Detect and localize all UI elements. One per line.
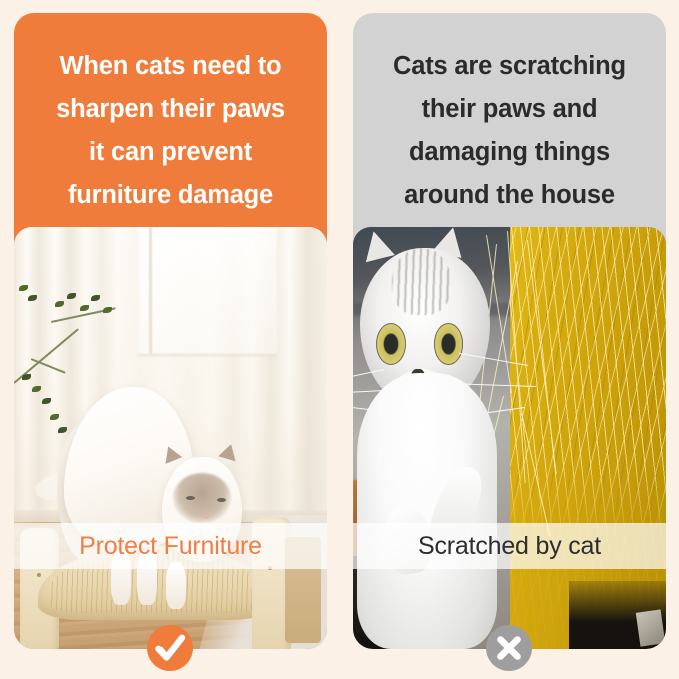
comparison-card-positive: When cats need to sharpen their paws it … xyxy=(14,13,327,649)
cat-eye xyxy=(186,496,195,500)
headline-positive-line-4: furniture damage xyxy=(28,174,313,217)
headline-negative-line-2: their paws and xyxy=(367,88,652,131)
headline-positive-line-3: it can prevent xyxy=(28,131,313,174)
grey-cat xyxy=(353,231,528,649)
cat-eye xyxy=(434,323,464,365)
cat-leg xyxy=(166,562,186,609)
caption-protect-furniture: Protect Furniture xyxy=(79,532,262,561)
headline-positive-line-1: When cats need to xyxy=(28,45,313,88)
cross-icon xyxy=(486,625,532,671)
headline-negative-line-1: Cats are scratching xyxy=(367,45,652,88)
comparison-card-negative: Cats are scratching their paws and damag… xyxy=(353,13,666,649)
cat-ear xyxy=(359,228,395,262)
headline-positive: When cats need to sharpen their paws it … xyxy=(14,45,327,217)
cat-forehead-stripes xyxy=(392,248,452,315)
headline-negative-line-3: damaging things xyxy=(367,131,652,174)
comparison-infographic: When cats need to sharpen their paws it … xyxy=(0,0,679,679)
headline-positive-line-2: sharpen their paws xyxy=(28,88,313,131)
window-pane xyxy=(139,227,277,356)
headline-negative-line-4: around the house xyxy=(367,174,652,217)
photo-scratched-by-cat: Scratched by cat xyxy=(353,227,666,649)
headline-negative: Cats are scratching their paws and damag… xyxy=(353,45,666,217)
cat-ear xyxy=(219,441,240,460)
caption-band-negative: Scratched by cat xyxy=(353,523,666,569)
cross-badge xyxy=(486,625,532,671)
cat-eye xyxy=(217,498,226,502)
cat-chest xyxy=(357,373,497,649)
check-badge xyxy=(147,625,193,671)
cat-eye xyxy=(376,323,406,365)
caption-band-positive: Protect Furniture xyxy=(14,523,327,569)
caption-scratched-by-cat: Scratched by cat xyxy=(418,532,601,561)
photo-scene-damaged-panel xyxy=(353,227,666,649)
photo-protect-furniture: Protect Furniture xyxy=(14,227,327,649)
check-icon xyxy=(147,625,193,671)
floor-object xyxy=(636,609,665,646)
photo-scene-living-room xyxy=(14,227,327,649)
